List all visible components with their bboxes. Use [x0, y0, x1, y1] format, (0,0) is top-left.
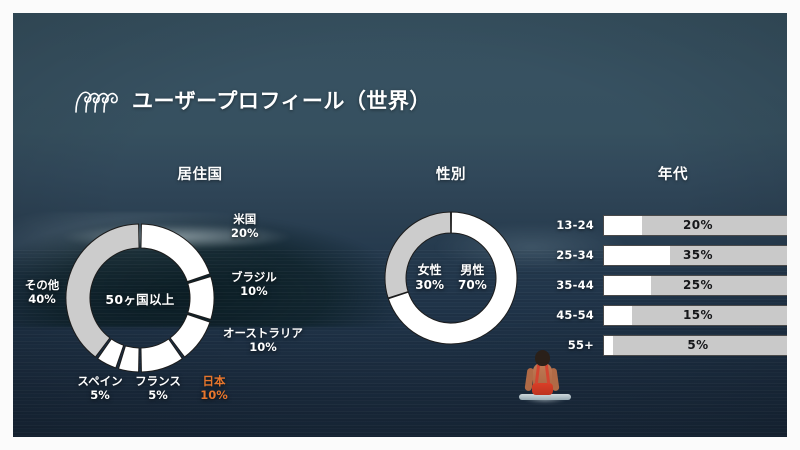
age-bar-value: 15% — [604, 306, 787, 325]
country-callout-オーストラリア[interactable]: オーストラリア10% — [223, 326, 303, 355]
country-callout-フランス[interactable]: フランス5% — [127, 374, 189, 403]
country-callout-label: 米国 — [231, 212, 259, 226]
age-bar-track: 5% — [603, 335, 787, 356]
country-callout-label: フランス — [127, 374, 189, 388]
donut-slice-米国[interactable] — [141, 224, 210, 282]
country-callout-value: 10% — [223, 340, 303, 354]
country-callout-スペイン[interactable]: スペイン5% — [69, 374, 131, 403]
chart-title-country: 居住国 — [35, 163, 365, 184]
country-callout-label: オーストラリア — [223, 326, 303, 340]
chart-title-gender: 性別 — [351, 163, 551, 184]
country-callout-label: その他 — [13, 278, 73, 292]
donut-chart-country: 50ヶ国以上 米国20%ブラジル10%オーストラリア10%日本10%フランス5%… — [35, 198, 365, 398]
country-callout-value: 40% — [13, 292, 73, 306]
age-bar-label: 25-34 — [553, 248, 603, 262]
age-bar-label: 35-44 — [553, 278, 603, 292]
age-bar-row[interactable]: 13-2420% — [553, 214, 787, 236]
chart-panel-age: 年代 13-2420%25-3435%35-4425%45-5415%55+5% — [553, 163, 787, 364]
chart-panel-gender: 性別 女性 30% 男性 70% — [351, 163, 551, 348]
country-callout-label: 日本 — [183, 374, 245, 388]
age-bar-value: 20% — [604, 216, 787, 235]
age-bar-value: 5% — [604, 336, 787, 355]
donut-slice-その他[interactable] — [66, 224, 139, 357]
wave-logo-icon — [73, 85, 119, 115]
country-callout-その他[interactable]: その他40% — [13, 278, 73, 307]
age-bar-row[interactable]: 25-3435% — [553, 244, 787, 266]
country-callout-ブラジル[interactable]: ブラジル10% — [231, 270, 277, 299]
presentation-slide: ユーザープロフィール（世界） 居住国 50ヶ国以上 米国20%ブラジル10%オー… — [13, 13, 787, 437]
age-bar-row[interactable]: 55+5% — [553, 334, 787, 356]
age-bar-value: 25% — [604, 276, 787, 295]
age-bar-label: 13-24 — [553, 218, 603, 232]
age-bar-label: 55+ — [553, 338, 603, 352]
age-bar-row[interactable]: 35-4425% — [553, 274, 787, 296]
page-title: ユーザープロフィール（世界） — [132, 85, 431, 115]
donut-gender-svg — [381, 208, 521, 348]
donut-country-svg — [35, 198, 365, 398]
country-callout-value: 5% — [127, 388, 189, 402]
screenshot-root: ユーザープロフィール（世界） 居住国 50ヶ国以上 米国20%ブラジル10%オー… — [0, 0, 800, 450]
donut-chart-gender: 女性 30% 男性 70% — [381, 208, 521, 348]
age-bar-track: 20% — [603, 215, 787, 236]
age-bar-track: 15% — [603, 305, 787, 326]
country-callout-label: スペイン — [69, 374, 131, 388]
country-callout-value: 10% — [231, 284, 277, 298]
country-callout-label: ブラジル — [231, 270, 277, 284]
age-bar-row[interactable]: 45-5415% — [553, 304, 787, 326]
age-bar-list: 13-2420%25-3435%35-4425%45-5415%55+5% — [553, 214, 787, 356]
chart-title-age: 年代 — [553, 163, 787, 184]
slide-header: ユーザープロフィール（世界） — [73, 85, 431, 115]
country-callout-value: 10% — [183, 388, 245, 402]
country-callout-value: 5% — [69, 388, 131, 402]
donut-slice-女性[interactable] — [385, 212, 451, 298]
surfer-swimsuit — [532, 383, 553, 395]
age-bar-value: 35% — [604, 246, 787, 265]
age-bar-track: 35% — [603, 245, 787, 266]
age-bar-track: 25% — [603, 275, 787, 296]
country-callout-value: 20% — [231, 226, 259, 240]
age-bar-label: 45-54 — [553, 308, 603, 322]
chart-panel-country: 居住国 50ヶ国以上 米国20%ブラジル10%オーストラリア10%日本10%フラ… — [35, 163, 365, 398]
donut-slice-ブラジル[interactable] — [188, 276, 214, 319]
country-callout-米国[interactable]: 米国20% — [231, 212, 259, 241]
country-callout-日本[interactable]: 日本10% — [183, 374, 245, 403]
surfer-head — [535, 350, 550, 366]
